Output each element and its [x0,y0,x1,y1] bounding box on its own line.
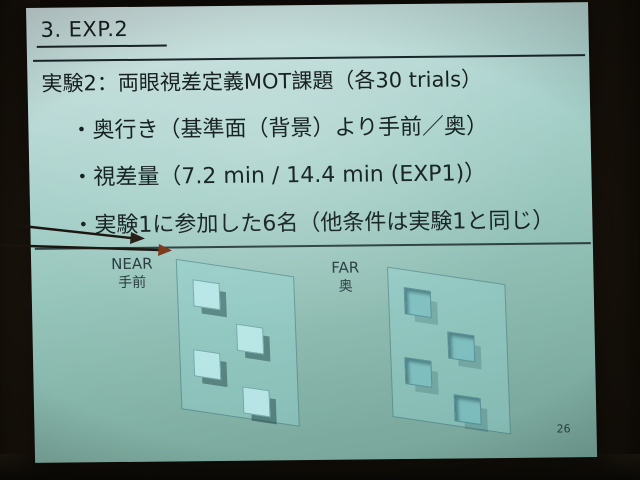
bullet-item-disparity: ・視差量（7.2 min / 14.4 min (EXP1)） [71,155,486,191]
depth-panel-near [176,259,300,427]
slide-lead-line: 実験2：両眼視差定義MOT課題（各30 trials） [41,63,482,98]
target-square-far-3 [404,357,432,388]
target-square-near-1 [192,279,220,310]
target-square-near-3 [193,349,221,380]
title-underline [37,45,167,48]
slide-surface: 3. EXP.2 実験2：両眼視差定義MOT課題（各30 trials） ・奥行… [26,2,597,463]
depth-panel-far [387,267,511,435]
target-square-far-1 [404,287,432,318]
figure-label-far: FAR 奥 [331,258,360,297]
figure-label-far-jp: 奥 [331,278,359,297]
header-divider [33,54,585,62]
target-square-near-2 [236,324,264,355]
figure-label-near-en: NEAR [111,255,153,273]
figure-label-near-jp: 手前 [111,274,153,293]
target-square-near-4 [242,386,270,417]
target-square-far-2 [447,331,475,362]
projected-slide-photo: 3. EXP.2 実験2：両眼視差定義MOT課題（各30 trials） ・奥行… [0,0,640,480]
bullet-item-participants: ・実験1に参加した6名（他条件は実験1と同じ） [72,202,555,239]
slide-page-number: 26 [556,422,570,435]
figure-label-far-en: FAR [331,259,359,277]
slide-background: 3. EXP.2 実験2：両眼視差定義MOT課題（各30 trials） ・奥行… [26,2,597,463]
target-square-far-4 [454,394,482,425]
figure-label-near: NEAR 手前 [111,254,153,294]
slide-content: 3. EXP.2 実験2：両眼視差定義MOT課題（各30 trials） ・奥行… [26,2,597,463]
bullet-item-depth: ・奥行き（基準面（背景）より手前／奥） [70,108,488,144]
slide-title: 3. EXP.2 [40,17,128,42]
figure-section-divider [35,242,591,250]
